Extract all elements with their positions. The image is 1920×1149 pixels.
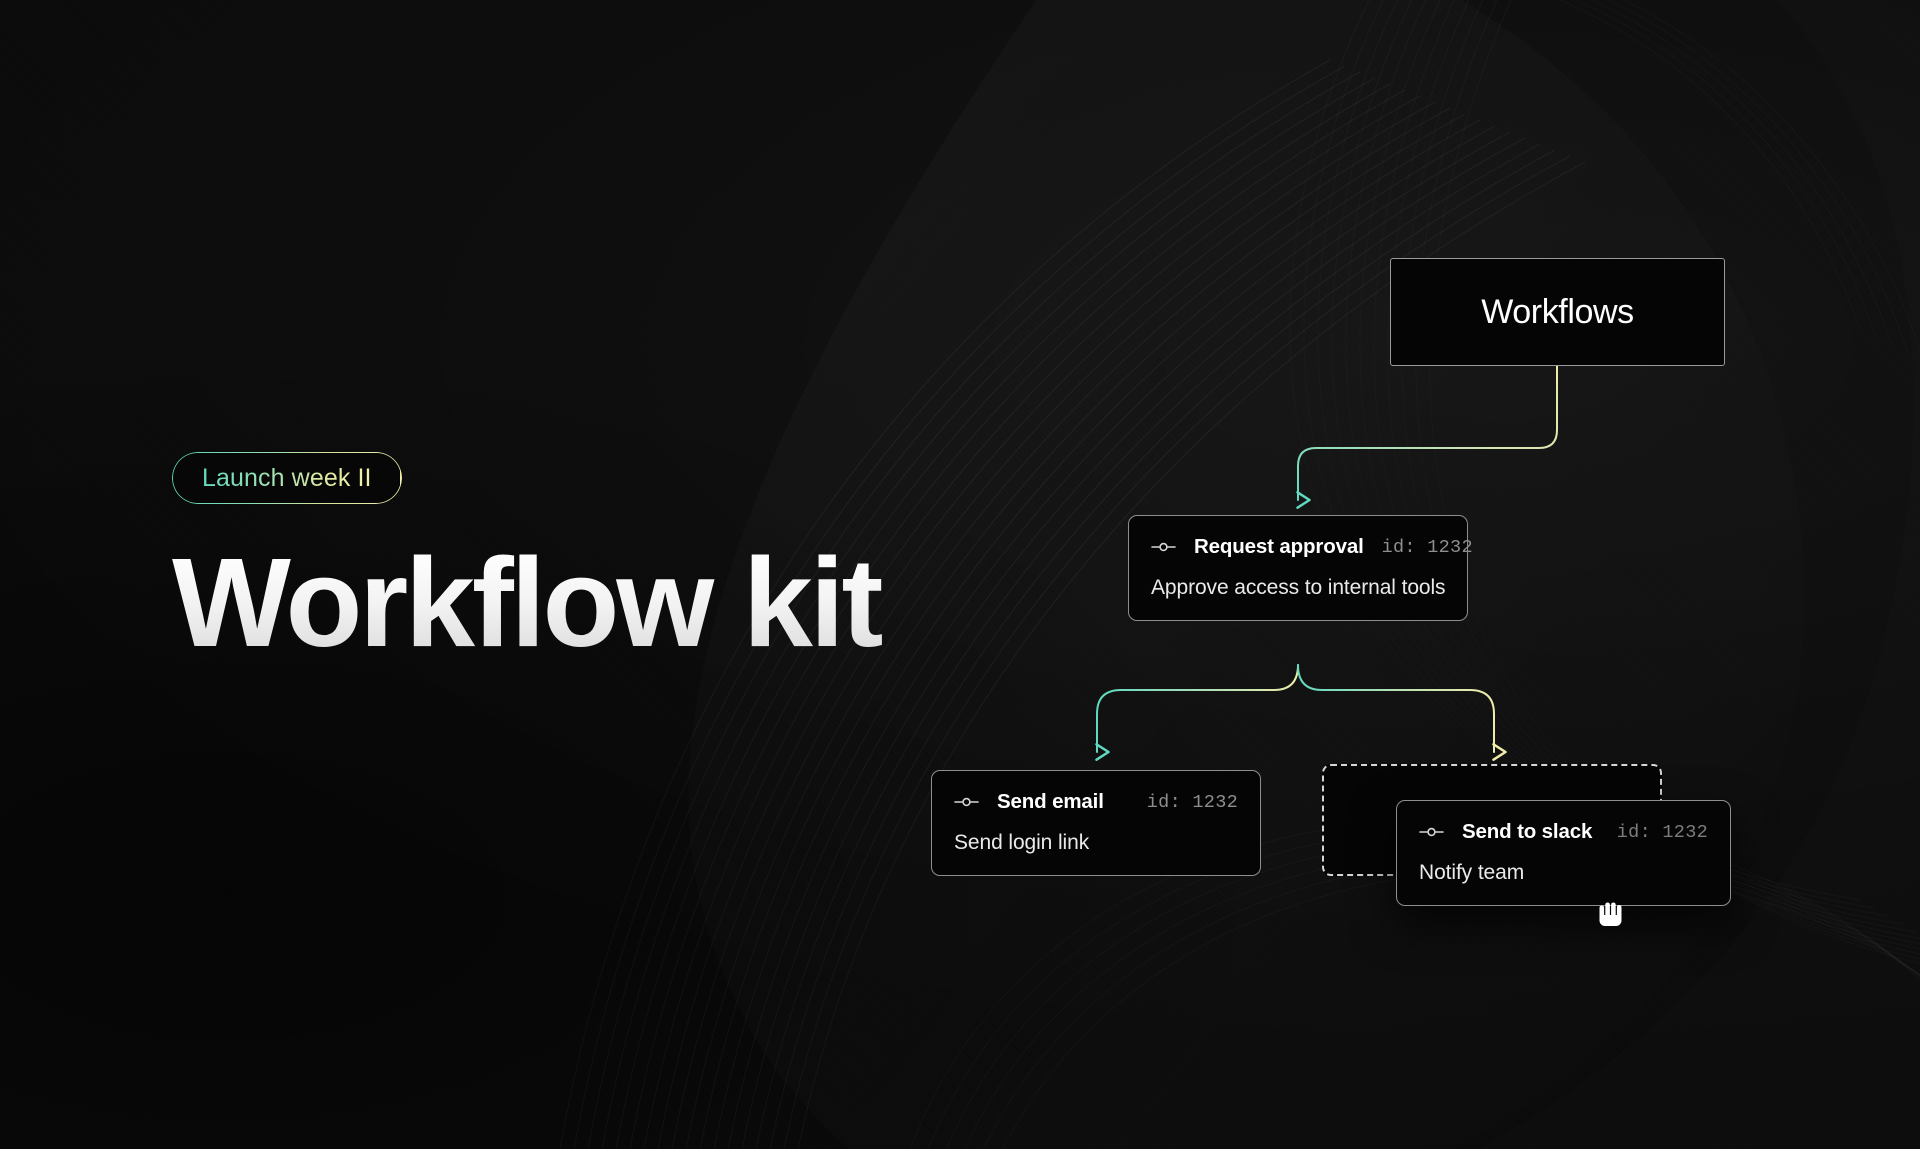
workflow-root-node[interactable]: Workflows [1390, 258, 1725, 366]
node-connector-icon [1151, 541, 1176, 553]
workflow-node-send-to-slack[interactable]: Send to slack id: 1232 Notify team [1396, 800, 1731, 906]
grabbing-hand-cursor [1594, 898, 1628, 932]
hero-block: Launch week II Workflow kit [172, 452, 992, 666]
node-id-label: id: 1232 [1382, 537, 1473, 558]
node-description: Notify team [1419, 861, 1708, 885]
node-header: Send email id: 1232 [954, 790, 1238, 814]
node-description: Approve access to internal tools [1151, 576, 1445, 600]
node-title: Send to slack [1462, 820, 1592, 844]
launch-week-badge[interactable]: Launch week II [172, 452, 402, 504]
node-connector-icon [1419, 826, 1444, 838]
node-title: Send email [997, 790, 1104, 814]
page-title: Workflow kit [172, 540, 992, 666]
node-description: Send login link [954, 831, 1238, 855]
workflow-node-send-email[interactable]: Send email id: 1232 Send login link [931, 770, 1261, 876]
launch-week-badge-label: Launch week II [202, 464, 372, 493]
node-connector-icon [954, 796, 979, 808]
workflow-node-request-approval[interactable]: Request approval id: 1232 Approve access… [1128, 515, 1468, 621]
node-header: Request approval id: 1232 [1151, 535, 1445, 559]
drag-drop-placeholder[interactable] [1322, 764, 1662, 876]
node-title: Request approval [1194, 535, 1364, 559]
workflow-root-label: Workflows [1481, 293, 1634, 332]
node-id-label: id: 1232 [1147, 792, 1238, 813]
node-id-label: id: 1232 [1617, 822, 1708, 843]
workflow-kit-hero-canvas: Launch week II Workflow kit [0, 0, 1920, 1149]
node-header: Send to slack id: 1232 [1419, 820, 1708, 844]
